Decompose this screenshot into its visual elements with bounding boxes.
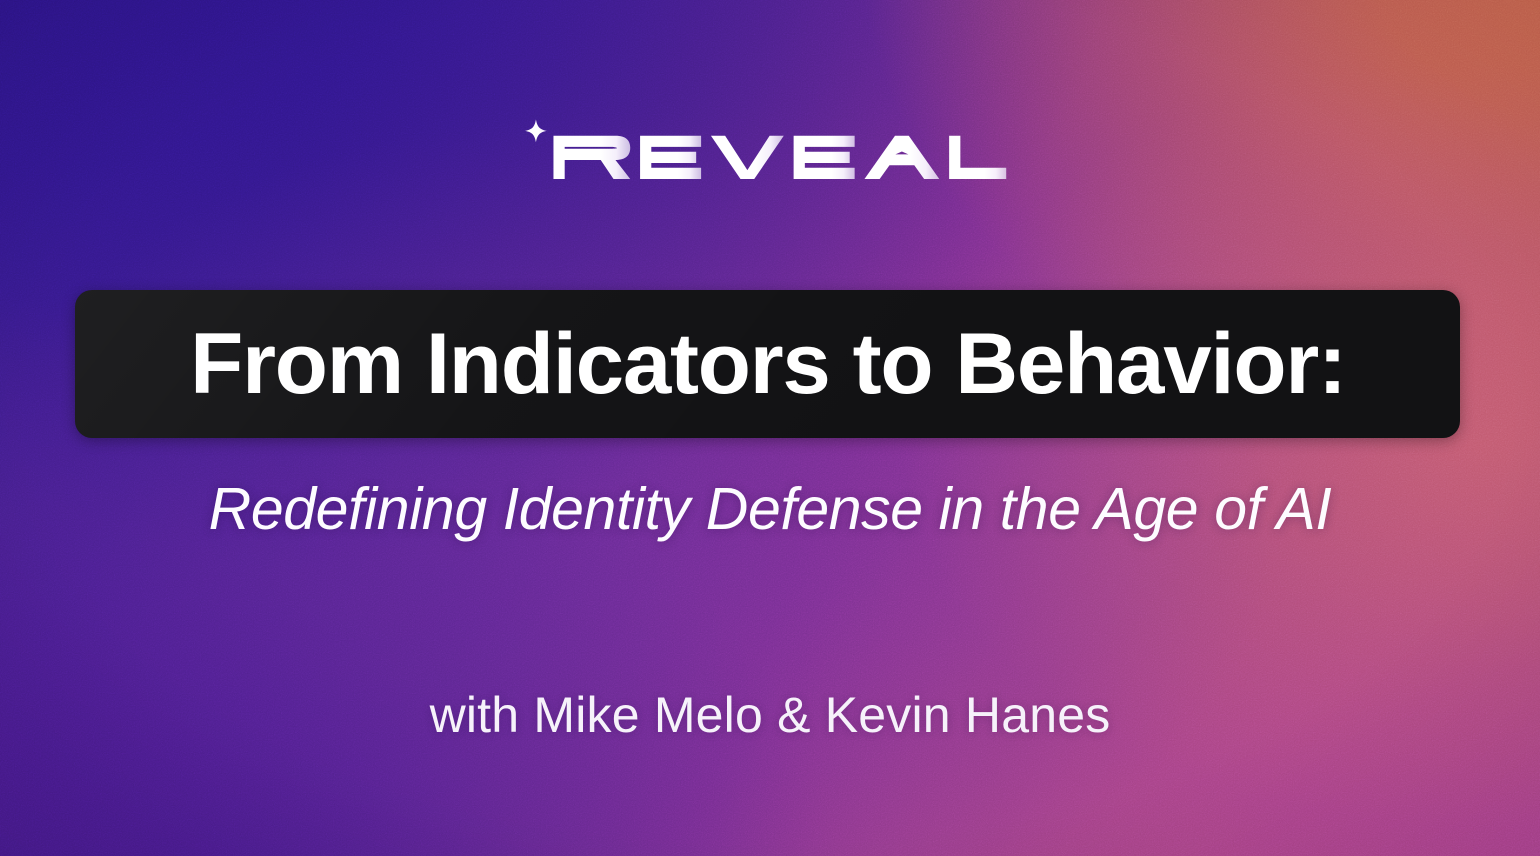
page-title: From Indicators to Behavior: [190,321,1346,407]
logo-letter-e [640,136,701,179]
brand-logo [0,118,1540,180]
logo-letter-a [864,136,939,179]
title-slide: From Indicators to Behavior: Redefining … [0,0,1540,856]
logo-letter-l [949,136,1006,179]
logo-letter-r [553,136,630,179]
presenter-line: with Mike Melo & Kevin Hanes [0,688,1540,743]
logo-letter-v [711,136,784,179]
slide-content: From Indicators to Behavior: Redefining … [0,0,1540,856]
logo-wordmark [525,119,1006,179]
sparkle-star-icon [525,119,547,142]
title-bar: From Indicators to Behavior: [75,290,1460,438]
logo-letter-e [794,136,855,179]
subtitle: Redefining Identity Defense in the Age o… [0,478,1540,542]
